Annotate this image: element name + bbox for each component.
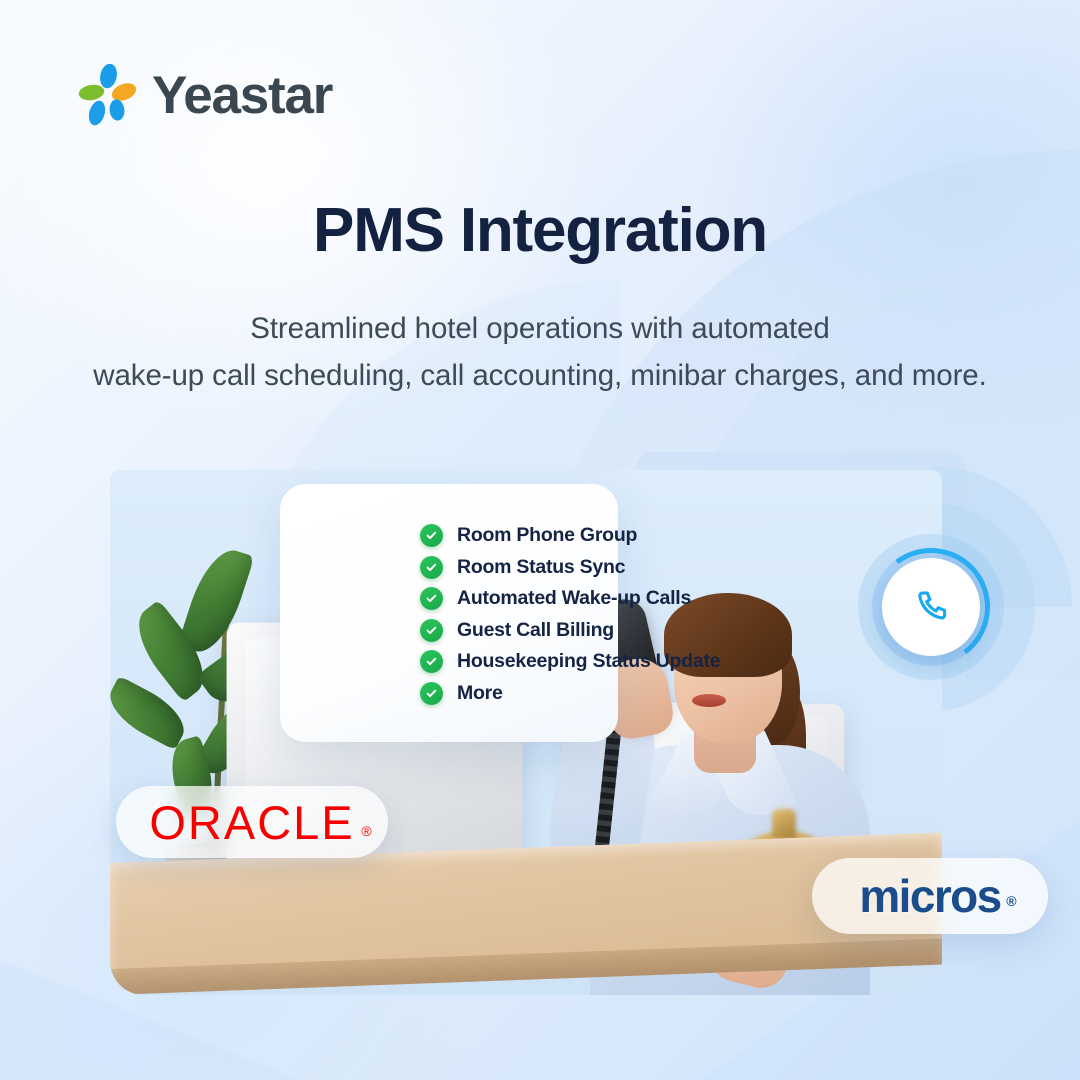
check-circle-icon [420, 587, 443, 610]
subtitle-line-2: wake-up call scheduling, call accounting… [0, 353, 1080, 400]
list-item[interactable]: Automated Wake-up Calls [420, 587, 720, 611]
list-item-label: Room Status Sync [457, 558, 625, 578]
oracle-trademark: ® [361, 824, 371, 838]
partner-badge-micros[interactable]: micros® [812, 858, 1048, 934]
page-title: PMS Integration [0, 196, 1080, 265]
poster-canvas: Yeastar PMS Integration Streamlined hote… [0, 0, 1080, 1080]
partner-badge-oracle[interactable]: ORACLE® [116, 786, 388, 858]
micros-wordmark-logo: micros [859, 873, 1000, 919]
feature-list: Room Phone Group Room Status Sync Automa… [420, 524, 720, 705]
brand-logo[interactable]: Yeastar [78, 64, 332, 126]
check-circle-icon [420, 556, 443, 579]
list-item[interactable]: Room Status Sync [420, 556, 720, 580]
list-item-label: Automated Wake-up Calls [457, 589, 691, 609]
page-subtitle: Streamlined hotel operations with automa… [0, 306, 1080, 399]
list-item[interactable]: Guest Call Billing [420, 619, 720, 643]
list-item-label: Room Phone Group [457, 526, 637, 546]
list-item[interactable]: Housekeeping Status Update [420, 650, 720, 674]
list-item-label: More [457, 684, 503, 704]
list-item[interactable]: More [420, 682, 720, 706]
micros-trademark: ® [1006, 894, 1016, 908]
background-wash-top-right [580, 0, 1080, 540]
brand-wordmark: Yeastar [152, 69, 332, 122]
check-circle-icon [420, 682, 443, 705]
check-circle-icon [420, 524, 443, 547]
phone-handset-icon [882, 558, 980, 656]
list-item-label: Housekeeping Status Update [457, 652, 720, 672]
yeastar-pinwheel-icon [78, 64, 136, 126]
list-item[interactable]: Room Phone Group [420, 524, 720, 548]
subtitle-line-1: Streamlined hotel operations with automa… [0, 306, 1080, 353]
check-circle-icon [420, 619, 443, 642]
phone-badge[interactable] [858, 534, 1004, 680]
check-circle-icon [420, 650, 443, 673]
oracle-wordmark-logo: ORACLE [149, 799, 354, 846]
list-item-label: Guest Call Billing [457, 621, 614, 641]
